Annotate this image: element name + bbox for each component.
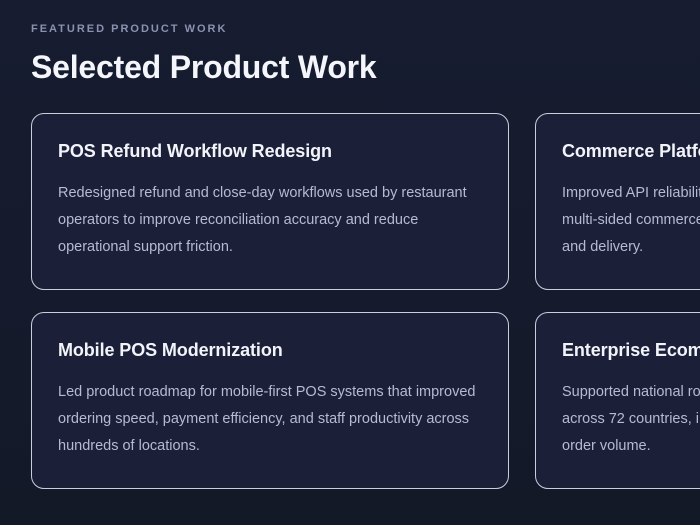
project-card-description: Improved API reliability and partner int… [562, 180, 700, 261]
project-card[interactable]: Mobile POS Modernization Led product roa… [31, 312, 509, 489]
page-root: FEATURED PRODUCT WORK Selected Product W… [0, 0, 700, 525]
project-card-description: Led product roadmap for mobile-first POS… [58, 379, 478, 460]
featured-work-section: FEATURED PRODUCT WORK Selected Product W… [31, 22, 700, 525]
section-eyebrow: FEATURED PRODUCT WORK [31, 22, 700, 36]
project-card-grid: POS Refund Workflow Redesign Redesigned … [31, 113, 700, 489]
project-card-title: Mobile POS Modernization [58, 339, 484, 361]
project-card-description: Redesigned refund and close-day workflow… [58, 180, 478, 261]
project-card-title: Commerce Platform Reliability [562, 140, 700, 162]
page-title: Selected Product Work [31, 48, 700, 86]
project-card[interactable]: Commerce Platform Reliability Improved A… [535, 113, 700, 290]
project-card[interactable]: POS Refund Workflow Redesign Redesigned … [31, 113, 509, 290]
project-card-description: Supported national rollout of an enterpr… [562, 379, 700, 460]
project-card[interactable]: Enterprise Ecommerce Rollout Supported n… [535, 312, 700, 489]
project-card-title: Enterprise Ecommerce Rollout [562, 339, 700, 361]
project-card-title: POS Refund Workflow Redesign [58, 140, 484, 162]
